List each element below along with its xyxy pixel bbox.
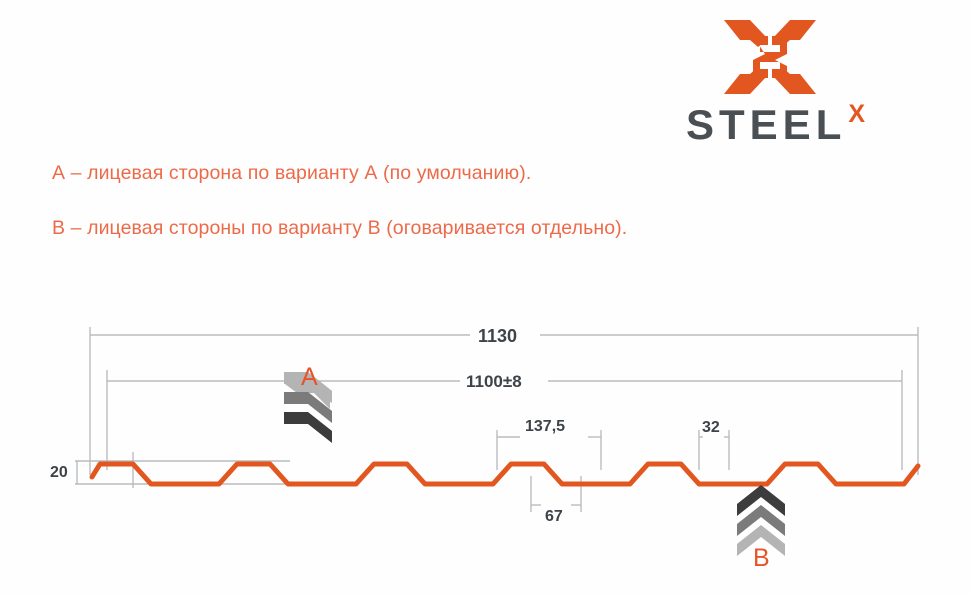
dimension-label-effective-width: 1100±8 (466, 372, 522, 392)
dimension-label-rib-pitch: 137,5 (525, 418, 565, 436)
dimension-label-valley-width: 67 (545, 508, 563, 526)
dimension-label-rib-crest-width: 32 (702, 419, 720, 437)
profile-cross-section-drawing (0, 0, 970, 597)
dimension-label-profile-height: 20 (50, 464, 68, 482)
corrugated-profile-path (92, 464, 918, 484)
marker-a-letter: А (301, 363, 318, 392)
marker-b-letter: В (753, 544, 770, 573)
dimension-label-overall-width: 1130 (478, 326, 517, 347)
